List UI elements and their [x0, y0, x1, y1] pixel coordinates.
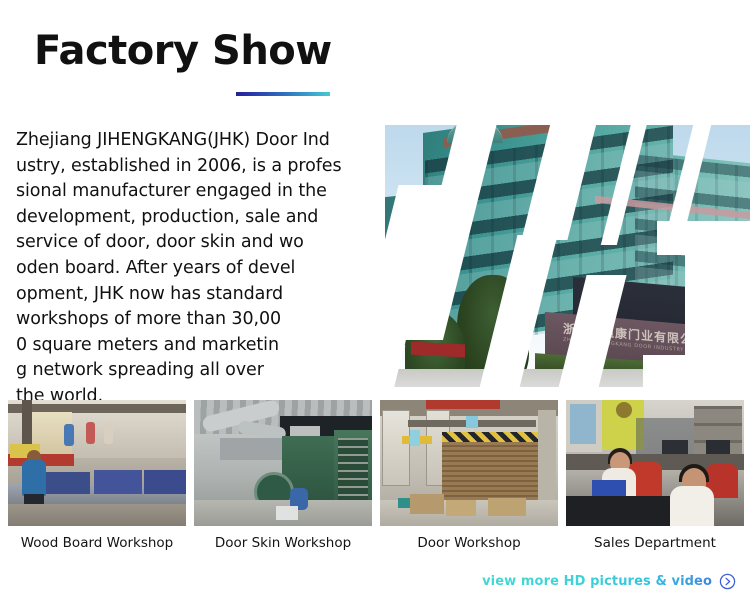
- overlay-stroke-5: [555, 275, 626, 387]
- thumbnail-image-door-workshop[interactable]: [380, 400, 558, 526]
- t3-hazard-stripe: [442, 432, 538, 442]
- t2-extraction-hood: [220, 438, 286, 460]
- t4-employee-2-body: [670, 486, 714, 526]
- t2-press-grid: [338, 438, 368, 500]
- overlay-stroke-4: [521, 125, 598, 240]
- thumbnail-image-wood-board-workshop[interactable]: [8, 400, 186, 526]
- jhk-logo-overlay: [385, 125, 750, 387]
- thumbnail-item-wood-board-workshop[interactable]: Wood Board Workshop: [8, 400, 186, 552]
- t3-press-frame-left: [382, 410, 410, 486]
- title-underline-accent: [236, 92, 330, 96]
- overlay-stroke-3: [476, 235, 557, 387]
- t3-label-tag-1: [410, 430, 420, 446]
- chevron-right-circle-icon[interactable]: [719, 573, 736, 590]
- thumbnail-caption-door-workshop: Door Workshop: [380, 534, 558, 552]
- thumbnail-item-door-skin-workshop[interactable]: Door Skin Workshop: [194, 400, 372, 552]
- company-intro-paragraph: Zhejiang JIHENGKANG(JHK) Door Ind ustry,…: [16, 128, 428, 410]
- t1-person-background-1: [64, 424, 74, 446]
- t3-timber-box-3: [488, 498, 526, 516]
- t1-blue-machine-2: [94, 470, 142, 494]
- view-more-link[interactable]: view more HD pictures & video: [0, 566, 750, 596]
- thumbnail-image-door-skin-workshop[interactable]: [194, 400, 372, 526]
- t3-timber-box-2: [446, 500, 476, 516]
- t1-person-background-3: [104, 424, 113, 444]
- thumbnail-caption-door-skin-workshop: Door Skin Workshop: [194, 534, 372, 552]
- t1-worker-body: [22, 460, 46, 496]
- t3-right-column: [538, 410, 556, 500]
- t1-person-background-2: [86, 422, 95, 444]
- t3-timber-box-1: [410, 494, 444, 514]
- t3-label-tag-2: [466, 416, 478, 428]
- view-more-link-label: view more HD pictures & video: [482, 574, 712, 589]
- factory-building-photo: 浙江基恒康门业有限公司 ZHEJIANG JIHENGKANG DOOR IND…: [385, 125, 750, 387]
- t4-window: [570, 404, 596, 444]
- overlay-stroke-10: [643, 355, 750, 387]
- overlay-stroke-6: [601, 125, 649, 245]
- thumbnail-image-sales-department[interactable]: [566, 400, 744, 526]
- t1-floor: [8, 504, 186, 526]
- overlay-stroke-8: [666, 125, 713, 233]
- workshop-thumbnail-strip: Wood Board Workshop Door Skin Workshop: [8, 400, 742, 552]
- page-header: Factory Show: [0, 0, 750, 118]
- thumbnail-caption-wood-board-workshop: Wood Board Workshop: [8, 534, 186, 552]
- t3-red-banner: [426, 400, 500, 409]
- t4-emblem-icon: [616, 402, 632, 418]
- page-title: Factory Show: [34, 27, 332, 75]
- thumbnail-item-door-workshop[interactable]: Door Workshop: [380, 400, 558, 552]
- t2-bin: [276, 506, 298, 520]
- t1-blue-machine-3: [144, 470, 186, 494]
- t4-foreground-partition: [566, 496, 670, 526]
- thumbnail-item-sales-department[interactable]: Sales Department: [566, 400, 744, 552]
- thumbnail-caption-sales-department: Sales Department: [566, 534, 744, 552]
- intro-section: 浙江基恒康门业有限公司 ZHEJIANG JIHENGKANG DOOR IND…: [0, 118, 750, 393]
- t3-door-stack: [442, 442, 538, 500]
